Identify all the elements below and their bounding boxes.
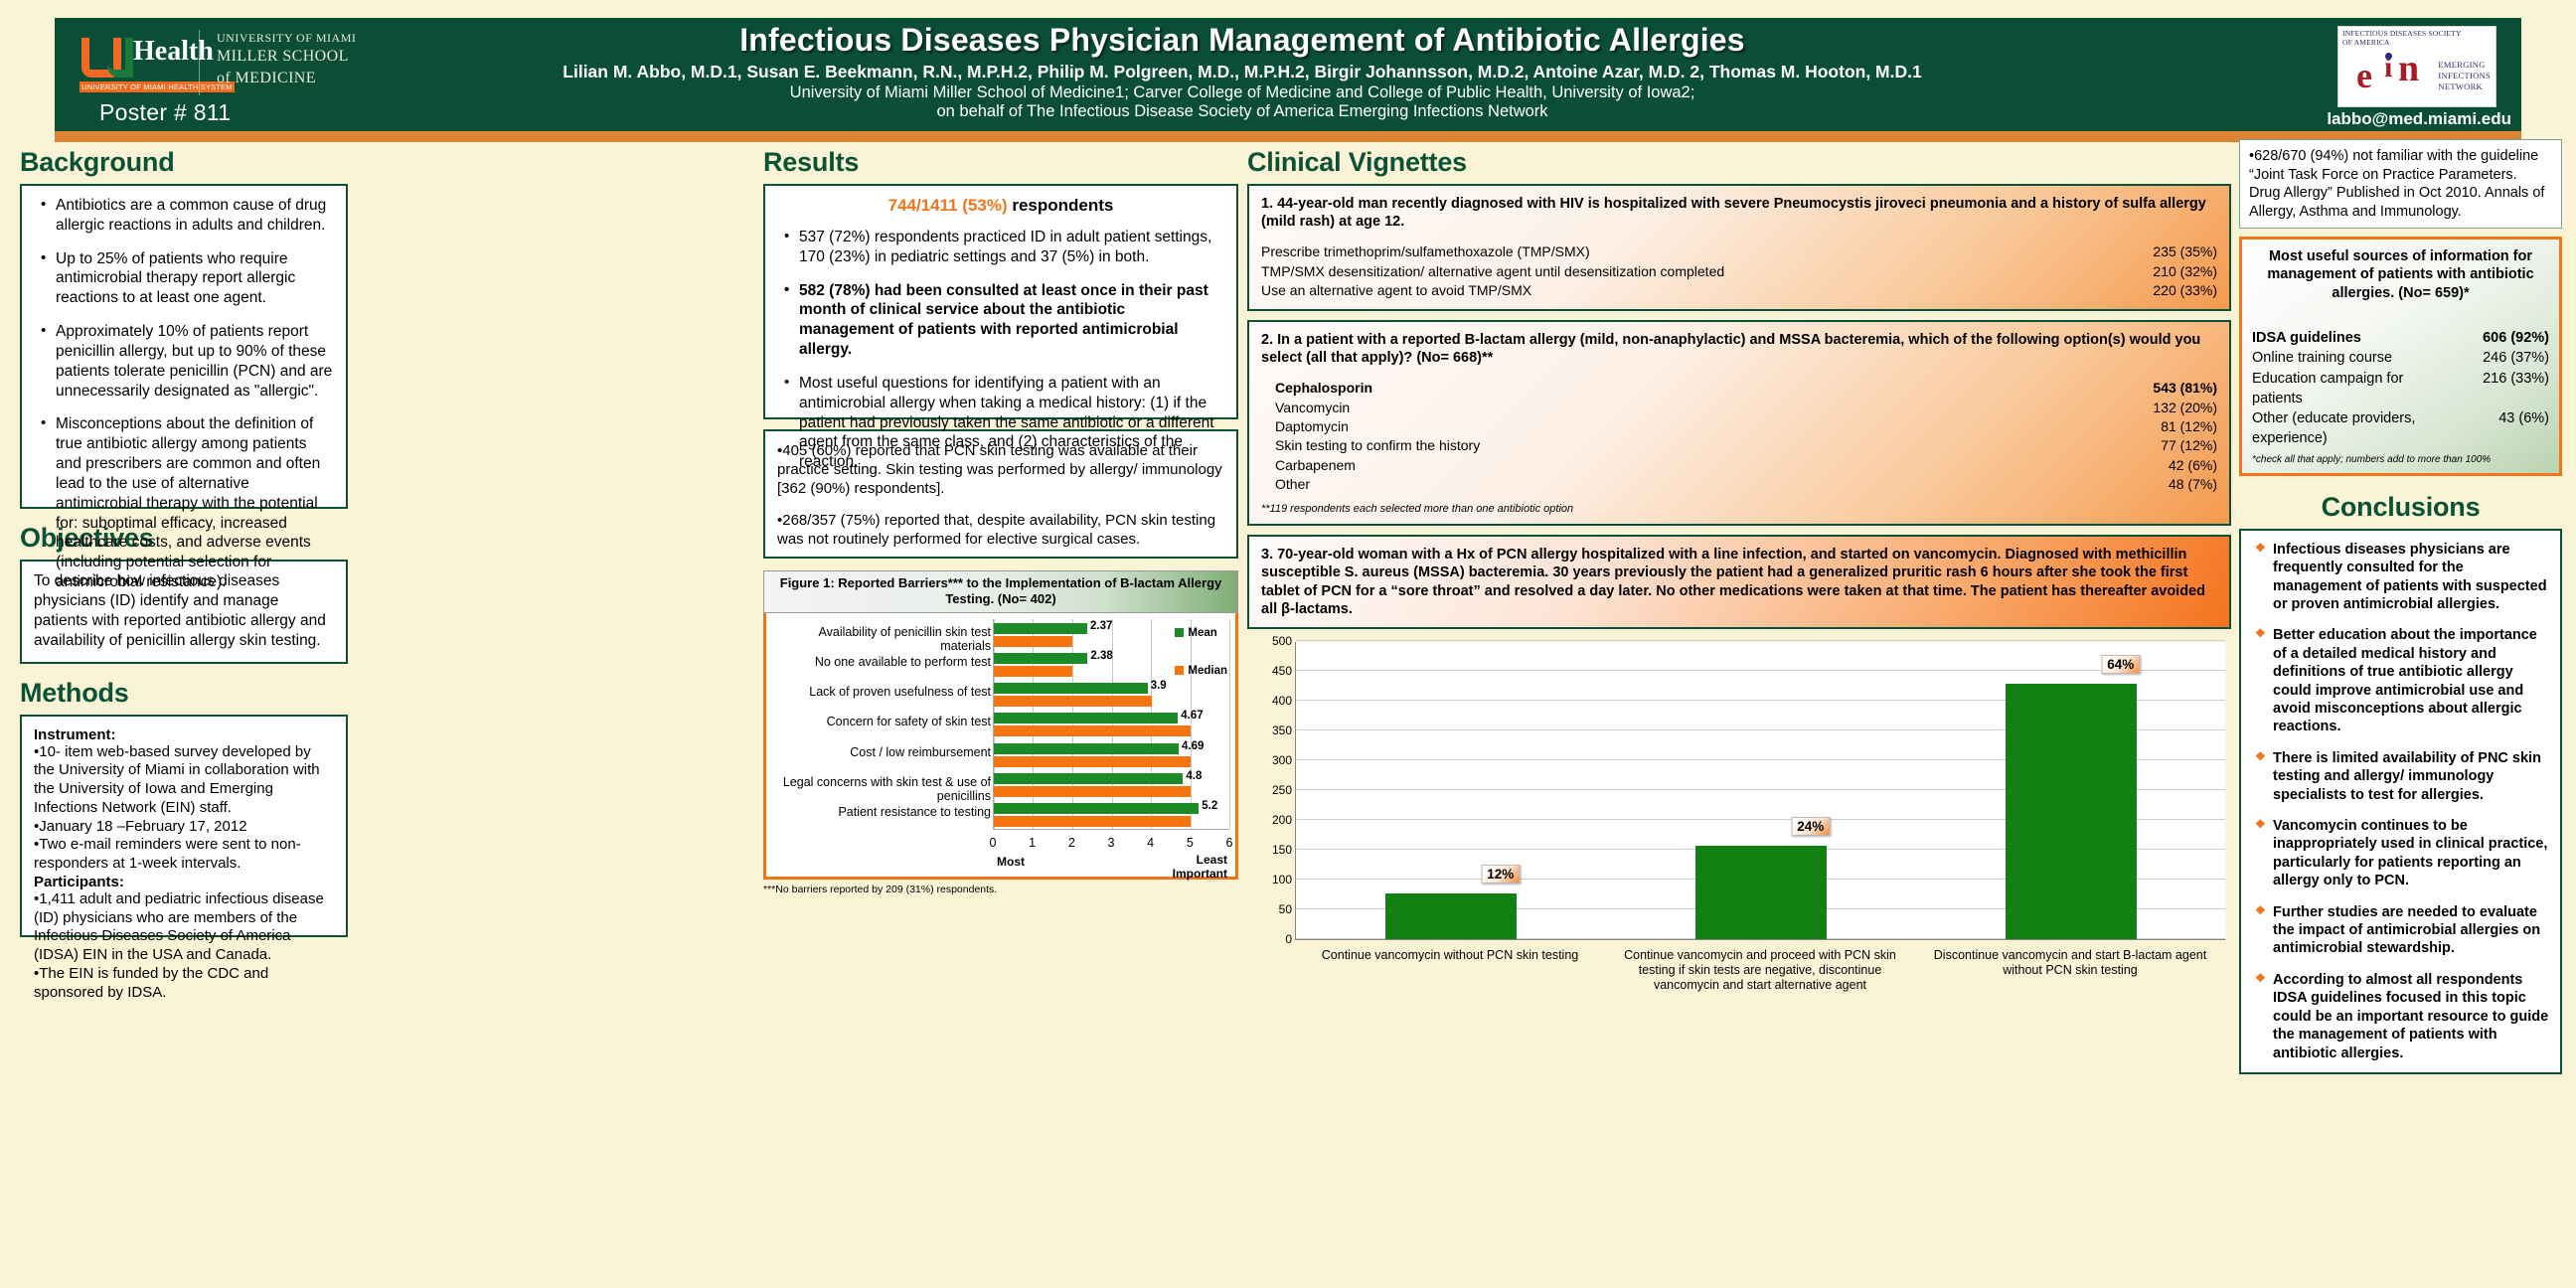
sources-of-information-box: Most useful sources of information for m…	[2239, 237, 2562, 476]
figure1-bar-median	[994, 666, 1072, 677]
methods-instrument-list: •10- item web-based survey developed by …	[34, 743, 334, 874]
vignette-3-y-tick: 300	[1254, 753, 1292, 767]
conclusion-item: Further studies are needed to evaluate t…	[2273, 903, 2550, 958]
background-bullet-list: Antibiotics are a common cause of drug a…	[34, 196, 334, 592]
ein-logo-words: EMERGING INFECTIONS NETWORK	[2438, 60, 2491, 91]
methods-instrument-item: •Two e-mail reminders were sent to non-r…	[34, 836, 334, 874]
source-row-value: 606 (92%)	[2458, 328, 2549, 348]
figure1-bar-mean	[994, 623, 1087, 634]
results-bullet: 537 (72%) respondents practiced ID in ad…	[799, 228, 1224, 267]
vignette-3-bar-label: 64%	[2101, 655, 2140, 674]
vignette-2-option-label: Carbapenem	[1275, 456, 2108, 475]
column-right: •628/670 (94%) not familiar with the gui…	[2239, 139, 2562, 1074]
vignette-3-y-tick: 400	[1254, 694, 1292, 708]
column-left: Background Antibiotics are a common caus…	[20, 147, 348, 937]
source-row-value: 216 (33%)	[2458, 369, 2549, 409]
ein-word-1: EMERGING	[2438, 60, 2491, 71]
figure1-bar-mean	[994, 743, 1179, 754]
figure1-legend-swatch	[1175, 628, 1184, 637]
guideline-familiarity-note: •628/670 (94%) not familiar with the gui…	[2239, 139, 2562, 229]
column-results: Results 744/1411 (53%) respondents 537 (…	[763, 147, 1238, 895]
methods-participants-list: •1,411 adult and pediatric infectious di…	[34, 890, 334, 1003]
vignette-2-option-label: Cephalosporin	[1275, 379, 2108, 398]
figure1-category-label: No one available to perform test	[770, 655, 991, 669]
figure1-legend-label: Median	[1188, 665, 1227, 677]
header-logo-divider	[199, 30, 200, 95]
vignette-2-option-label: Skin testing to confirm the history	[1275, 436, 2108, 455]
figure1-bar-value: 4.67	[1181, 710, 1203, 722]
vignette-2-option-value: 132 (20%)	[2108, 399, 2217, 417]
section-heading-results: Results	[763, 147, 1238, 178]
figure1-category-label: Cost / low reimbursement	[770, 745, 991, 759]
vignette-3-plot-area: 12%24%64% 050100150200250300350400450500	[1295, 642, 2225, 940]
column-clinical-vignettes: Clinical Vignettes 1. 44-year-old man re…	[1247, 147, 2231, 1014]
contact-email: labbo@med.miami.edu	[2327, 109, 2511, 129]
vignette-1-option: Prescribe trimethoprim/sulfamethoxazole …	[1261, 242, 2217, 261]
section-heading-conclusions: Conclusions	[2239, 492, 2562, 523]
figure1-x-tick: 6	[1226, 836, 1233, 850]
background-bullet: Approximately 10% of patients report pen…	[56, 322, 334, 401]
conclusions-box: Infectious diseases physicians are frequ…	[2239, 529, 2562, 1074]
vignette-1-option: TMP/SMX desensitization/ alternative age…	[1261, 262, 2217, 281]
uhealth-logo-mark: Health UNIVERSITY OF MIAMI HEALTH SYSTEM	[78, 34, 189, 95]
figure1-x-tick: 5	[1187, 836, 1194, 850]
vignette-3-bar-label: 12%	[1481, 865, 1520, 884]
vignette-2-option-value: 81 (12%)	[2108, 417, 2217, 436]
background-box: Antibiotics are a common cause of drug a…	[20, 184, 348, 509]
vignette-3-category-label: Continue vancomycin and proceed with PCN…	[1605, 948, 1915, 993]
figure1-bar-mean	[994, 683, 1148, 694]
figure1-bar-mean	[994, 653, 1087, 664]
methods-instrument-label: Instrument:	[34, 726, 334, 743]
section-heading-background: Background	[20, 147, 348, 178]
conclusion-item: Vancomycin continues to be inappropriate…	[2273, 817, 2550, 890]
vignette-3-y-tick: 0	[1254, 932, 1292, 946]
vignette-3-y-tick: 450	[1254, 664, 1292, 678]
figure1-bar-value: 3.9	[1151, 680, 1167, 692]
results-bullet: Most useful questions for identifying a …	[799, 374, 1224, 472]
vignette-3-category-label: Continue vancomycin without PCN skin tes…	[1295, 948, 1605, 963]
vignette-2-option: Daptomycin81 (12%)	[1275, 417, 2217, 436]
results-main-box: 744/1411 (53%) respondents 537 (72%) res…	[763, 184, 1238, 419]
figure1-bar-value: 4.69	[1182, 740, 1204, 752]
vignette-2-option-label: Vancomycin	[1275, 399, 2108, 417]
figure1-bar-value: 4.8	[1186, 770, 1202, 782]
um-line-1: UNIVERSITY OF MIAMI	[217, 30, 356, 46]
figure1-bar-pair: 4.69	[994, 743, 1229, 769]
vignette-1-option: Use an alternative agent to avoid TMP/SM…	[1261, 281, 2217, 300]
vignette-3-bar	[1385, 893, 1516, 939]
figure1-bar-value: 2.37	[1090, 620, 1112, 632]
figure1-bar-pair: 4.8	[994, 773, 1229, 799]
sources-rows: IDSA guidelines606 (92%)Online training …	[2252, 328, 2549, 449]
figure1-bar-median	[994, 636, 1072, 647]
vignette-2-option-value: 42 (6%)	[2108, 456, 2217, 475]
source-row-label: Education campaign for patients	[2252, 369, 2458, 409]
results-bullet-list: 537 (72%) respondents practiced ID in ad…	[777, 228, 1224, 472]
figure1-bar-value: 5.2	[1202, 800, 1217, 812]
figure1-chart: Availability of penicillin skin test mat…	[763, 613, 1238, 880]
figure1-x-tick: 0	[990, 836, 997, 850]
conclusion-item: There is limited availability of PNC ski…	[2273, 749, 2550, 804]
vignette-2-option-value: 77 (12%)	[2108, 436, 2217, 455]
vignette-2-option-value: 48 (7%)	[2108, 475, 2217, 494]
conclusions-list: Infectious diseases physicians are frequ…	[2253, 541, 2550, 1062]
vignette-2-option: Skin testing to confirm the history77 (1…	[1275, 436, 2217, 455]
methods-participants-item: •The EIN is funded by the CDC and sponso…	[34, 965, 334, 1003]
figure1-x-tick: 2	[1068, 836, 1075, 850]
figure1-bar-mean	[994, 773, 1183, 784]
vignette-1-option-value: 220 (33%)	[2108, 281, 2217, 300]
vignette-3-y-tick: 250	[1254, 783, 1292, 797]
vignette-1-question: 1. 44-year-old man recently diagnosed wi…	[1261, 195, 2217, 231]
figure1-x-tick: 3	[1108, 836, 1115, 850]
figure1-legend: MeanMedian	[1175, 627, 1227, 703]
sources-footnote: *check all that apply; numbers add to mo…	[2252, 454, 2549, 465]
vignette-3-category-label: Discontinue vancomycin and start B-lacta…	[1915, 948, 2225, 978]
figure1-legend-label: Mean	[1188, 627, 1216, 639]
figure1-x-tick: 1	[1029, 836, 1036, 850]
respondents-word: respondents	[1008, 196, 1114, 215]
conclusion-item: Better education about the importance of…	[2273, 626, 2550, 735]
source-row-label: IDSA guidelines	[2252, 328, 2458, 348]
vignette-3-y-tick: 500	[1254, 634, 1292, 648]
source-row-label: Other (educate providers, experience)	[2252, 408, 2458, 449]
ein-top-line-2: OF AMERICA	[2342, 39, 2492, 48]
methods-box: Instrument: •10- item web-based survey d…	[20, 715, 348, 937]
vignette-3-question: 3. 70-year-old woman with a Hx of PCN al…	[1261, 546, 2217, 618]
respondents-headline: 744/1411 (53%) respondents	[777, 196, 1224, 216]
vignette-1-option-label: Prescribe trimethoprim/sulfamethoxazole …	[1261, 242, 2108, 261]
vignette-2-option: Cephalosporin543 (81%)	[1275, 379, 2217, 398]
vignette-1-options: Prescribe trimethoprim/sulfamethoxazole …	[1261, 242, 2217, 300]
figure1-category-label: Patient resistance to testing	[770, 805, 991, 819]
source-row: Other (educate providers, experience)43 …	[2252, 408, 2549, 449]
section-heading-clinical-vignettes: Clinical Vignettes	[1247, 147, 2231, 178]
figure1-bar-value: 2.38	[1090, 650, 1112, 662]
results-bullet: 582 (78%) had been consulted at least on…	[799, 281, 1224, 360]
vignette-3-bar	[2006, 684, 2136, 939]
conclusion-item: According to almost all respondents IDSA…	[2273, 971, 2550, 1062]
sources-title: Most useful sources of information for m…	[2252, 247, 2549, 302]
ein-word-3: NETWORK	[2438, 81, 2491, 92]
respondents-count: 744/1411 (53%)	[888, 196, 1008, 215]
background-bullet: Up to 25% of patients who require antimi…	[56, 249, 334, 308]
figure1-bar-mean	[994, 803, 1199, 814]
results-secondary-item: •268/357 (75%) reported that, despite av…	[777, 511, 1224, 549]
vignette-3-y-tick: 350	[1254, 724, 1292, 737]
methods-instrument-item: •10- item web-based survey developed by …	[34, 743, 334, 818]
page-title: Infectious Diseases Physician Management…	[427, 22, 2057, 59]
vignette-3-y-tick: 50	[1254, 902, 1292, 916]
figure1-bar-median	[994, 725, 1191, 736]
figure1-bar-pair: 5.2	[994, 803, 1229, 829]
figure1-category-label: Concern for safety of skin test	[770, 715, 991, 728]
vignette-2-box: 2. In a patient with a reported B-lactam…	[1247, 320, 2231, 526]
source-row: IDSA guidelines606 (92%)	[2252, 328, 2549, 348]
source-row-value: 43 (6%)	[2458, 408, 2549, 449]
affiliation-line-2: on behalf of The Infectious Disease Soci…	[328, 102, 2157, 121]
figure1-gridline	[1229, 619, 1230, 829]
vignette-3-gridline	[1296, 670, 2225, 671]
logo-tagline: UNIVERSITY OF MIAMI HEALTH SYSTEM	[80, 81, 235, 92]
figure1-axis-note-least: Least	[1173, 853, 1227, 867]
figure1-category-label: Availability of penicillin skin test mat…	[770, 625, 991, 654]
figure1-bar-median	[994, 816, 1191, 827]
idsa-ein-logo: INFECTIOUS DISEASES SOCIETY OF AMERICA e…	[2337, 26, 2496, 107]
vignette-3-gridline	[1296, 640, 2225, 641]
vignette-2-option-value: 543 (81%)	[2108, 379, 2217, 398]
vignette-3-bar-label: 24%	[1791, 817, 1830, 836]
vignette-3-box: 3. 70-year-old woman with a Hx of PCN al…	[1247, 535, 2231, 629]
author-list: Lilian M. Abbo, M.D.1, Susan E. Beekmann…	[328, 62, 2157, 82]
figure1-footnote: ***No barriers reported by 209 (31%) res…	[763, 884, 1238, 895]
logo-health-wordmark: Health	[133, 36, 214, 68]
section-heading-methods: Methods	[20, 678, 348, 709]
vignette-2-footnote: **119 respondents each selected more tha…	[1261, 503, 2217, 515]
vignette-2-option-label: Daptomycin	[1275, 417, 2108, 436]
logo-j-shape	[107, 38, 133, 78]
conclusion-item: Infectious diseases physicians are frequ…	[2273, 541, 2550, 614]
vignette-2-option: Vancomycin132 (20%)	[1275, 399, 2217, 417]
vignette-3-bar	[1695, 846, 1826, 939]
source-row-label: Online training course	[2252, 348, 2458, 368]
vignette-3-chart: 12%24%64% 050100150200250300350400450500…	[1247, 638, 2231, 1014]
guideline-note-text: •628/670 (94%) not familiar with the gui…	[2249, 148, 2544, 220]
figure1-legend-item: Median	[1175, 665, 1227, 677]
source-row: Education campaign for patients216 (33%)	[2252, 369, 2549, 409]
vignette-2-option-label: Other	[1275, 475, 2108, 494]
vignette-3-y-tick: 150	[1254, 843, 1292, 857]
poster-number: Poster # 811	[99, 99, 231, 126]
ein-logo-mark: e i n EMERGING INFECTIONS NETWORK	[2338, 47, 2495, 94]
ein-letter-e: e	[2356, 55, 2372, 96]
vignette-1-option-value: 210 (32%)	[2108, 262, 2217, 281]
figure1-category-label: Lack of proven usefulness of test	[770, 685, 991, 699]
vignette-3-y-tick: 200	[1254, 813, 1292, 827]
ein-word-2: INFECTIONS	[2438, 71, 2491, 81]
figure1-category-label: Legal concerns with skin test & use of p…	[770, 775, 991, 804]
figure1-legend-item: Mean	[1175, 627, 1227, 639]
vignette-2-options: Cephalosporin543 (81%)Vancomycin132 (20%…	[1261, 379, 2217, 494]
source-row-value: 246 (37%)	[2458, 348, 2549, 368]
figure1-bar-median	[994, 786, 1191, 797]
source-row: Online training course246 (37%)	[2252, 348, 2549, 368]
vignette-1-option-value: 235 (35%)	[2108, 242, 2217, 261]
figure1-x-tick: 4	[1147, 836, 1154, 850]
figure1-bar-mean	[994, 713, 1178, 724]
figure1-bar-median	[994, 756, 1191, 767]
vignette-1-option-label: TMP/SMX desensitization/ alternative age…	[1261, 262, 2108, 281]
figure1-title: Figure 1: Reported Barriers*** to the Im…	[763, 570, 1238, 613]
vignette-2-option: Other48 (7%)	[1275, 475, 2217, 494]
figure1-axis-note-most: Most	[997, 855, 1025, 869]
figure1-axis-note-least-important: Least Important	[1173, 853, 1227, 882]
vignette-2-option: Carbapenem42 (6%)	[1275, 456, 2217, 475]
methods-participants-item: •1,411 adult and pediatric infectious di…	[34, 890, 334, 965]
vignette-1-option-label: Use an alternative agent to avoid TMP/SM…	[1261, 281, 2108, 300]
background-bullet: Misconceptions about the definition of t…	[56, 414, 334, 591]
poster-header-orange-strip	[55, 131, 2521, 142]
methods-participants-label: Participants:	[34, 874, 334, 890]
figure1-bar-pair: 4.67	[994, 713, 1229, 738]
vignette-1-box: 1. 44-year-old man recently diagnosed wi…	[1247, 184, 2231, 311]
ein-logo-top-text: INFECTIOUS DISEASES SOCIETY OF AMERICA	[2338, 27, 2495, 47]
vignette-2-question: 2. In a patient with a reported B-lactam…	[1261, 331, 2217, 367]
ein-letter-n: n	[2398, 47, 2419, 90]
figure1-x-axis-ticks: 0123456	[993, 836, 1229, 854]
figure1-legend-swatch	[1175, 666, 1184, 675]
methods-instrument-item: •January 18 –February 17, 2012	[34, 818, 334, 837]
vignette-3-y-tick: 100	[1254, 873, 1292, 886]
figure1-axis-note-important: Important	[1173, 867, 1227, 881]
affiliation-line-1: University of Miami Miller School of Med…	[328, 83, 2157, 102]
figure1-bar-median	[994, 696, 1152, 707]
background-bullet: Antibiotics are a common cause of drug a…	[56, 196, 334, 236]
